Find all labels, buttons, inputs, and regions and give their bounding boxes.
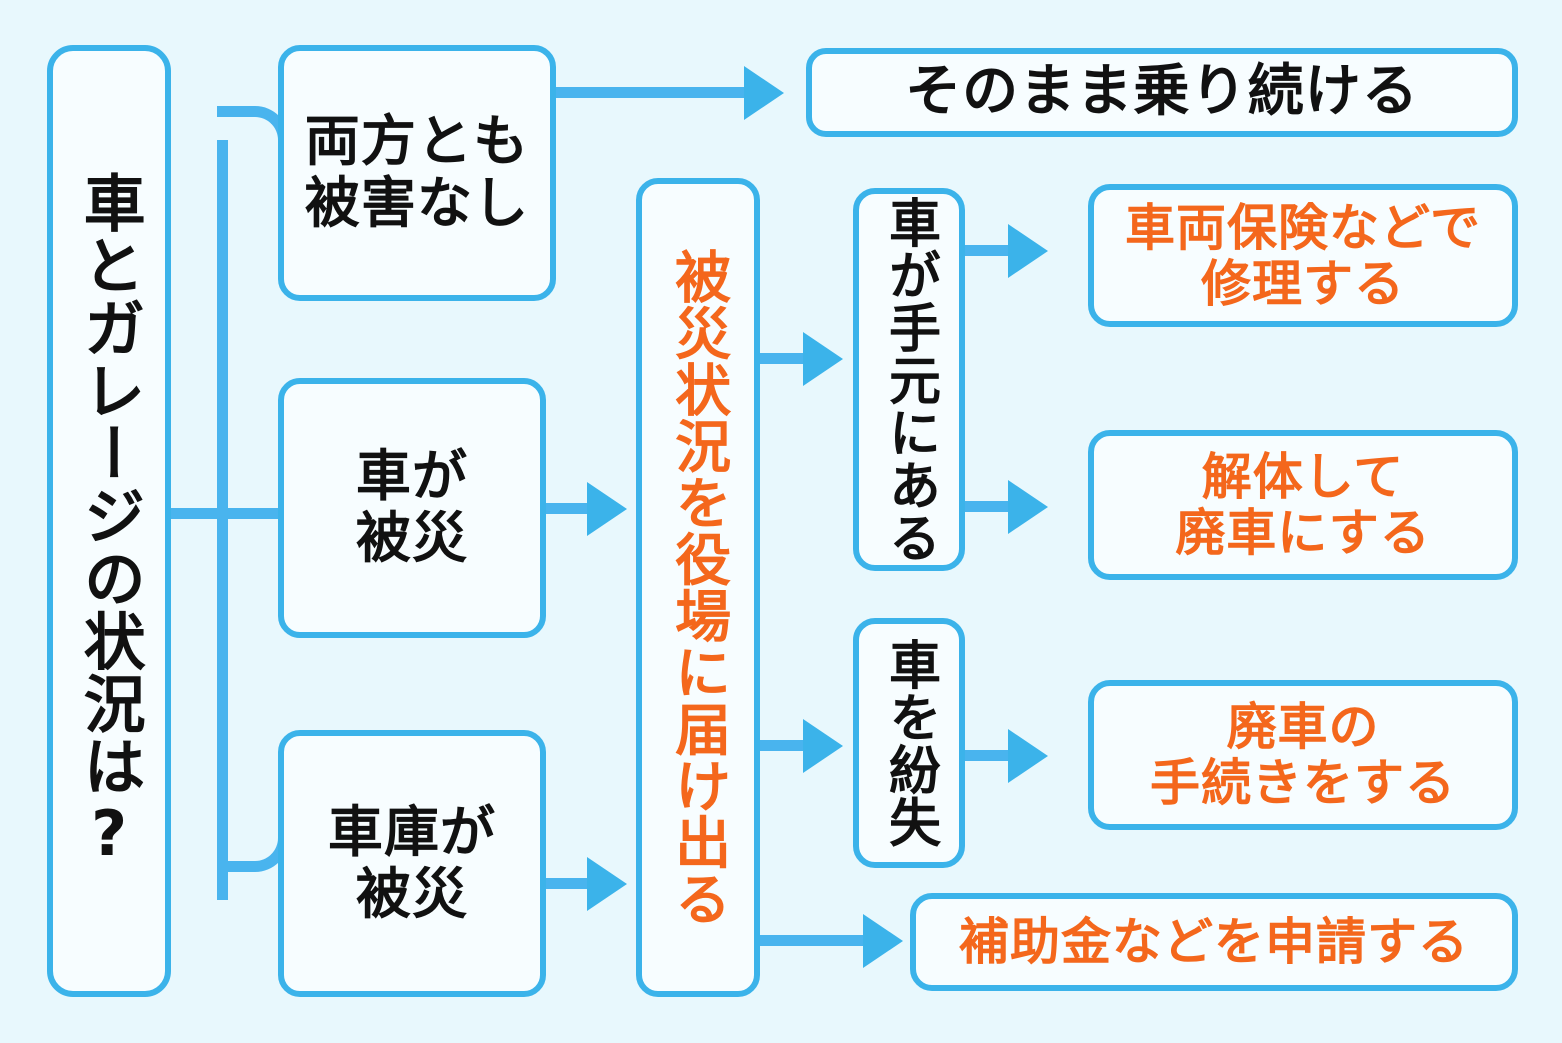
node-car-lost[interactable]: 車を紛失: [853, 618, 965, 868]
node-garage-damaged[interactable]: 車庫が 被災: [278, 730, 546, 997]
arrowhead-report-from-garage: [587, 857, 627, 911]
connector-garage-damaged-to-report: [542, 878, 590, 889]
connector-no-damage-to-keep-riding: [552, 87, 747, 98]
node-car-damaged[interactable]: 車が 被災: [278, 378, 546, 638]
arrowhead-scrap: [1008, 480, 1048, 534]
node-car-in-hand-label: 車が手元にある: [882, 196, 935, 564]
arrowhead-in-hand: [803, 332, 843, 386]
result-keep-riding[interactable]: そのまま乗り続ける: [806, 48, 1518, 137]
result-scrap-procedure[interactable]: 廃車の 手続きをする: [1088, 680, 1518, 830]
node-report-to-office-label: 被災状況を役場に届け出る: [669, 248, 726, 927]
result-repair-with-insurance-label: 車両保険などで 修理する: [1125, 200, 1481, 312]
node-garage-damaged-label: 車庫が 被災: [328, 802, 496, 925]
connector-trunk: [217, 140, 228, 900]
node-report-to-office[interactable]: 被災状況を役場に届け出る: [636, 178, 760, 997]
connector-report-to-in-hand: [756, 353, 806, 364]
flowchart-canvas: 車とガレージの状況は? 両方とも 被害なし 車が 被災 車庫が 被災 被災状況を…: [0, 0, 1562, 1043]
arrowhead-procedure: [1008, 729, 1048, 783]
connector-in-hand-to-insurance: [961, 245, 1011, 256]
connector-lost-to-procedure: [961, 750, 1011, 761]
connector-report-to-subsidy: [756, 935, 866, 946]
connector-report-to-lost: [756, 740, 806, 751]
node-root-question[interactable]: 車とガレージの状況は?: [47, 45, 171, 997]
result-dismantle-scrap[interactable]: 解体して 廃車にする: [1088, 430, 1518, 580]
node-no-damage[interactable]: 両方とも 被害なし: [278, 45, 556, 301]
result-apply-subsidy[interactable]: 補助金などを申請する: [910, 893, 1518, 991]
result-scrap-procedure-label: 廃車の 手続きをする: [1150, 699, 1456, 811]
node-car-lost-label: 車を紛失: [882, 638, 935, 848]
arrowhead-keep-riding: [744, 66, 784, 120]
arrowhead-report-from-car: [587, 482, 627, 536]
connector-in-hand-to-scrap: [961, 501, 1011, 512]
node-no-damage-label: 両方とも 被害なし: [305, 111, 529, 234]
result-apply-subsidy-label: 補助金などを申請する: [959, 914, 1469, 970]
arrowhead-insurance: [1008, 224, 1048, 278]
arrowhead-lost: [803, 719, 843, 773]
arrowhead-subsidy: [863, 914, 903, 968]
result-dismantle-scrap-label: 解体して 廃車にする: [1175, 449, 1431, 561]
node-root-question-label: 車とガレージの状況は?: [77, 171, 140, 871]
result-repair-with-insurance[interactable]: 車両保険などで 修理する: [1088, 184, 1518, 327]
result-keep-riding-label: そのまま乗り続ける: [905, 61, 1419, 124]
connector-car-damaged-to-report: [542, 503, 590, 514]
node-car-in-hand[interactable]: 車が手元にある: [853, 188, 965, 571]
node-car-damaged-label: 車が 被災: [356, 446, 468, 569]
